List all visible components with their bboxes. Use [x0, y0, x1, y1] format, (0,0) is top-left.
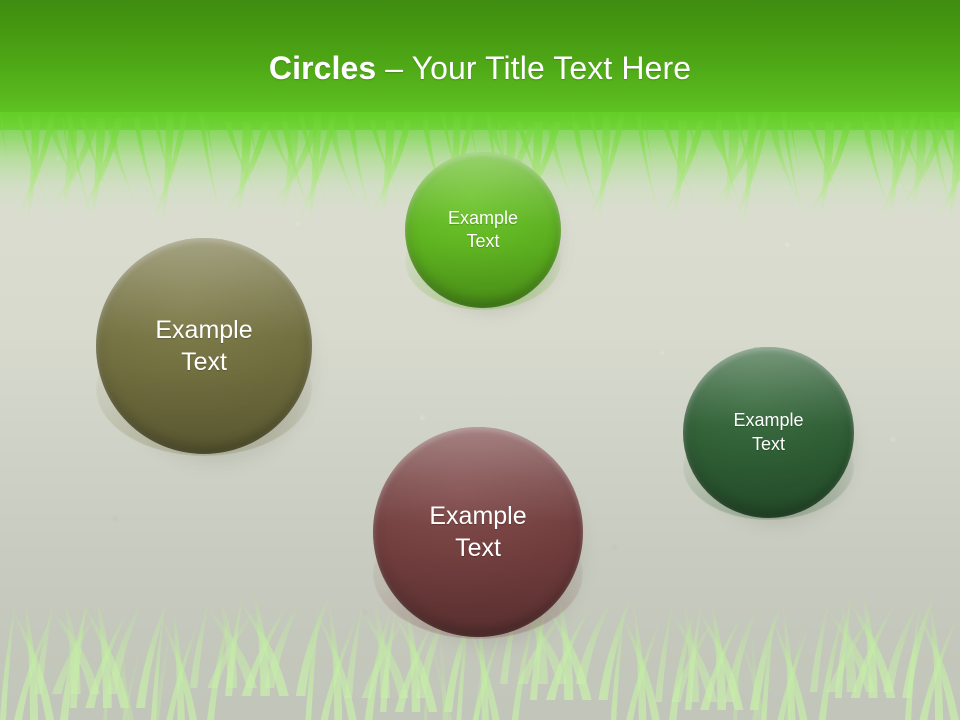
circle-label-line2-dark-green: Text — [733, 433, 803, 456]
circle-label-olive: ExampleText — [147, 314, 260, 378]
circle-label-line1-dark-green: Example — [733, 409, 803, 432]
circle-label-line2-maroon: Text — [429, 532, 526, 564]
circle-maroon[interactable]: ExampleText — [373, 427, 583, 637]
circle-label-maroon: ExampleText — [421, 500, 534, 564]
circle-bright-green[interactable]: ExampleText — [405, 152, 561, 308]
circle-label-line1-olive: Example — [155, 314, 252, 346]
page-title-rest: – Your Title Text Here — [376, 50, 691, 86]
page-title: Circles – Your Title Text Here — [0, 48, 960, 88]
circle-label-dark-green: ExampleText — [725, 409, 811, 455]
circle-label-line2-bright-green: Text — [448, 230, 518, 253]
circle-olive[interactable]: ExampleText — [96, 238, 312, 454]
circle-label-bright-green: ExampleText — [440, 207, 526, 253]
circle-label-line1-bright-green: Example — [448, 207, 518, 230]
slide-canvas: Circles – Your Title Text Here ExampleTe… — [0, 0, 960, 720]
circle-label-line1-maroon: Example — [429, 500, 526, 532]
page-title-strong: Circles — [269, 50, 376, 86]
circle-dark-green[interactable]: ExampleText — [683, 347, 854, 518]
circle-label-line2-olive: Text — [155, 346, 252, 378]
